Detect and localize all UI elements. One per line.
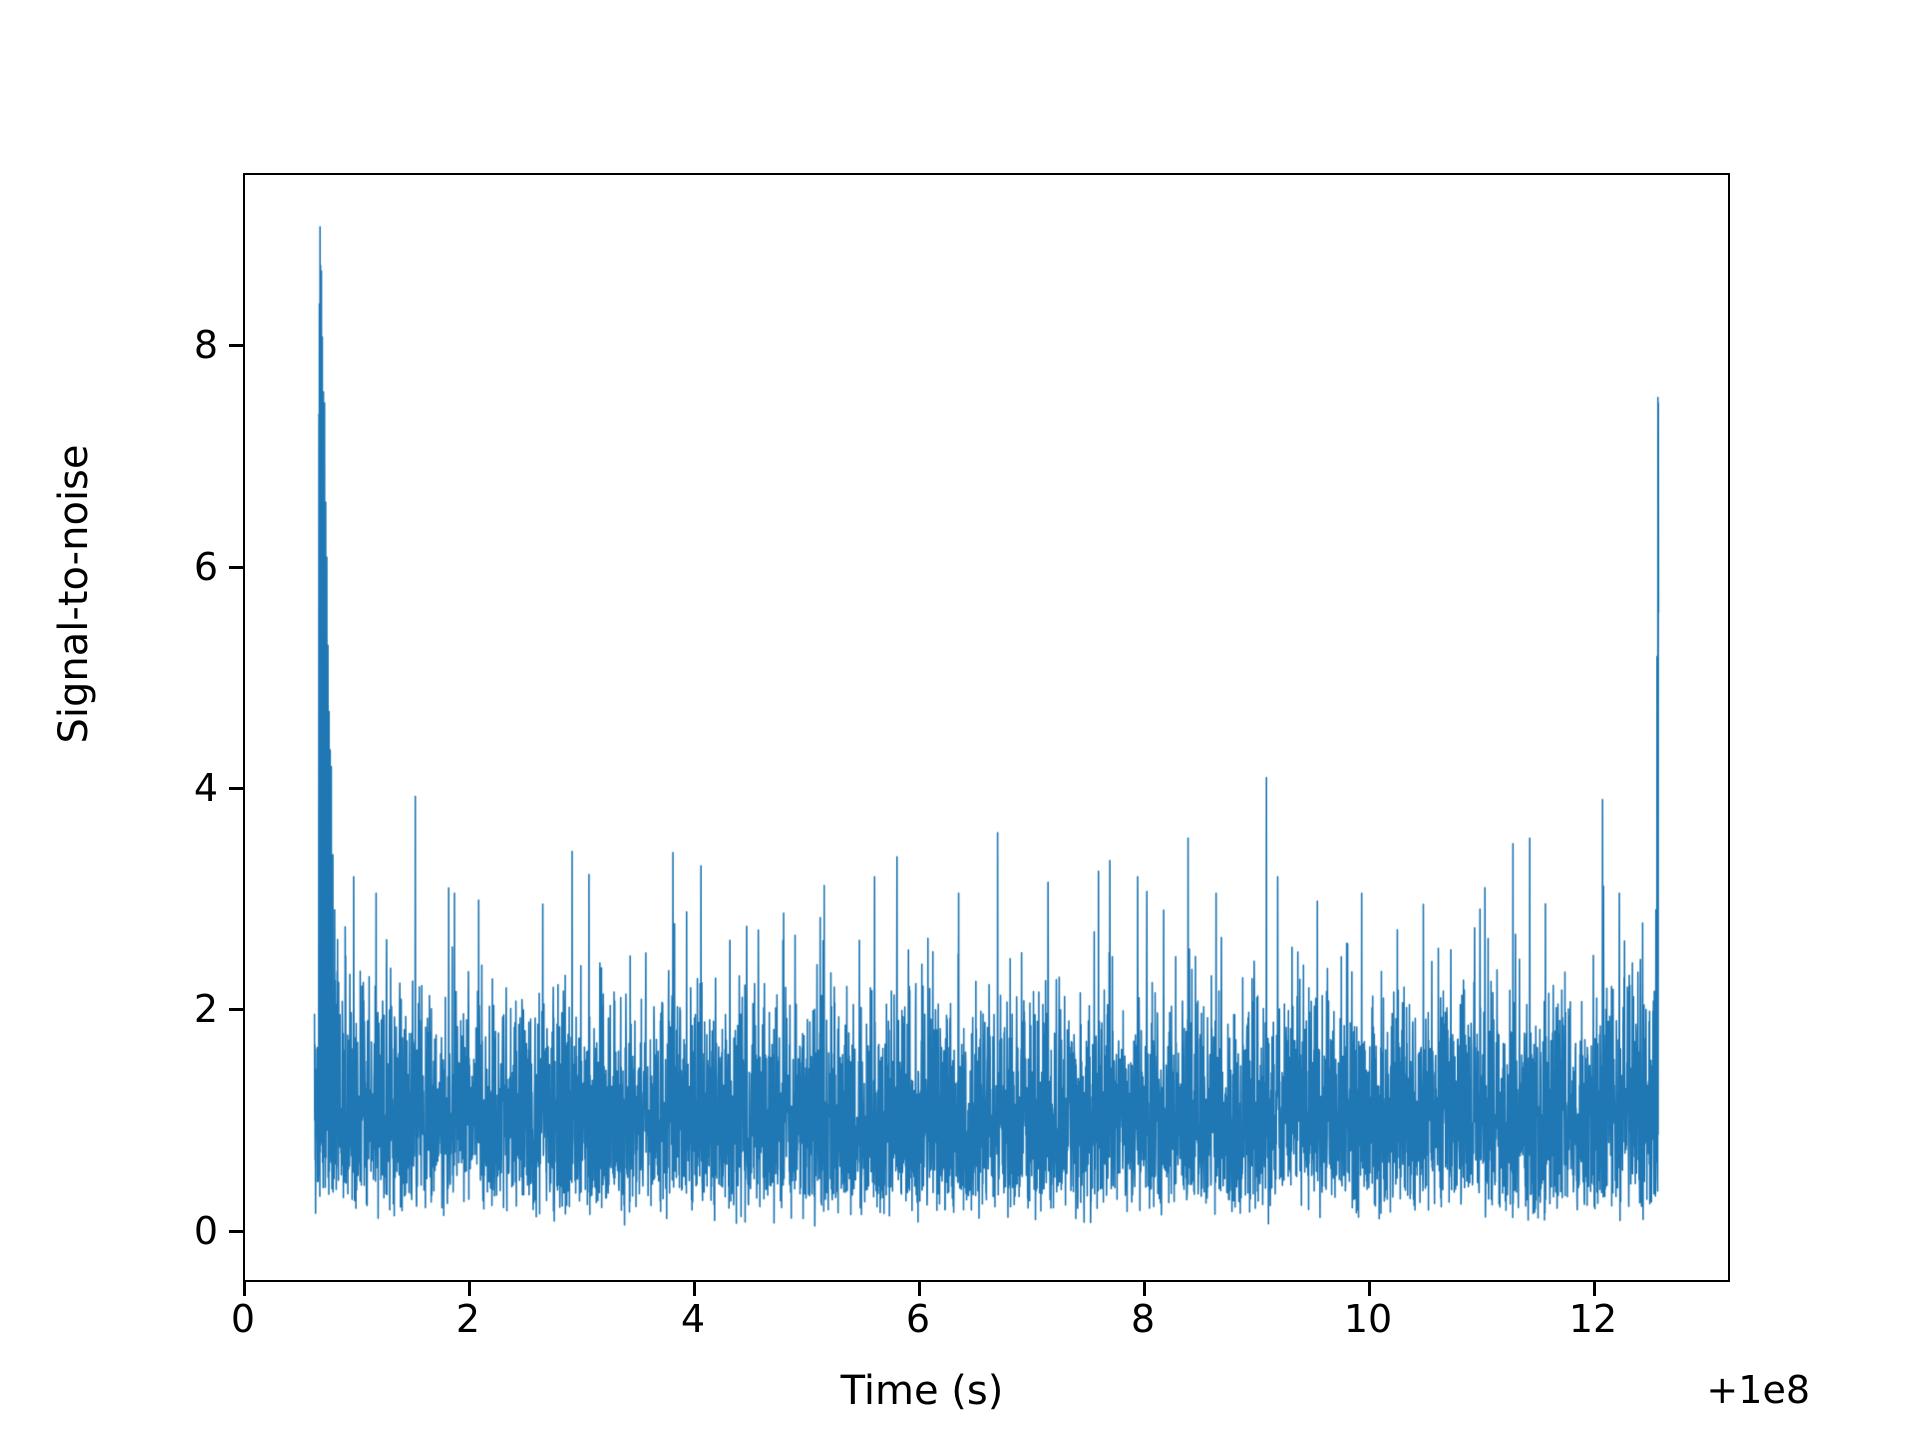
x-tick-mark-0 (243, 1282, 246, 1296)
y-tick-mark-0 (229, 1230, 243, 1233)
x-tick-label-10: 10 (1288, 1300, 1448, 1340)
x-tick-label-6: 6 (838, 1300, 998, 1340)
y-tick-label-4: 4 (0, 769, 218, 807)
x-tick-mark-8 (1143, 1282, 1146, 1296)
y-tick-label-8: 8 (0, 326, 218, 364)
x-tick-label-12: 12 (1513, 1300, 1673, 1340)
x-tick-mark-12 (1593, 1282, 1596, 1296)
x-tick-mark-6 (918, 1282, 921, 1296)
x-tick-mark-4 (693, 1282, 696, 1296)
x-tick-label-4: 4 (613, 1300, 773, 1340)
x-tick-mark-10 (1368, 1282, 1371, 1296)
y-tick-label-0: 0 (0, 1212, 218, 1250)
y-tick-label-2: 2 (0, 990, 218, 1028)
x-tick-label-2: 2 (388, 1300, 548, 1340)
x-tick-label-0: 0 (163, 1300, 323, 1340)
x-tick-mark-2 (468, 1282, 471, 1296)
y-tick-mark-8 (229, 344, 243, 347)
y-tick-mark-2 (229, 1008, 243, 1011)
x-axis-label-text: Time (s) (841, 1368, 1004, 1414)
plot-axes-frame (243, 173, 1730, 1282)
y-tick-mark-6 (229, 566, 243, 569)
x-axis-offset-text: +1e8 (1706, 1368, 1810, 1412)
x-tick-label-8: 8 (1063, 1300, 1223, 1340)
figure-canvas: 0 2 4 6 8 10 12 0 2 4 6 8 Time (s) Signa… (0, 0, 1920, 1440)
y-tick-label-6: 6 (0, 548, 218, 586)
y-tick-mark-4 (229, 787, 243, 790)
signal-to-noise-line-plot (245, 175, 1728, 1280)
y-axis-label: Signal-to-noise (51, 284, 97, 904)
x-axis-label: Time (s) (0, 1368, 1920, 1414)
